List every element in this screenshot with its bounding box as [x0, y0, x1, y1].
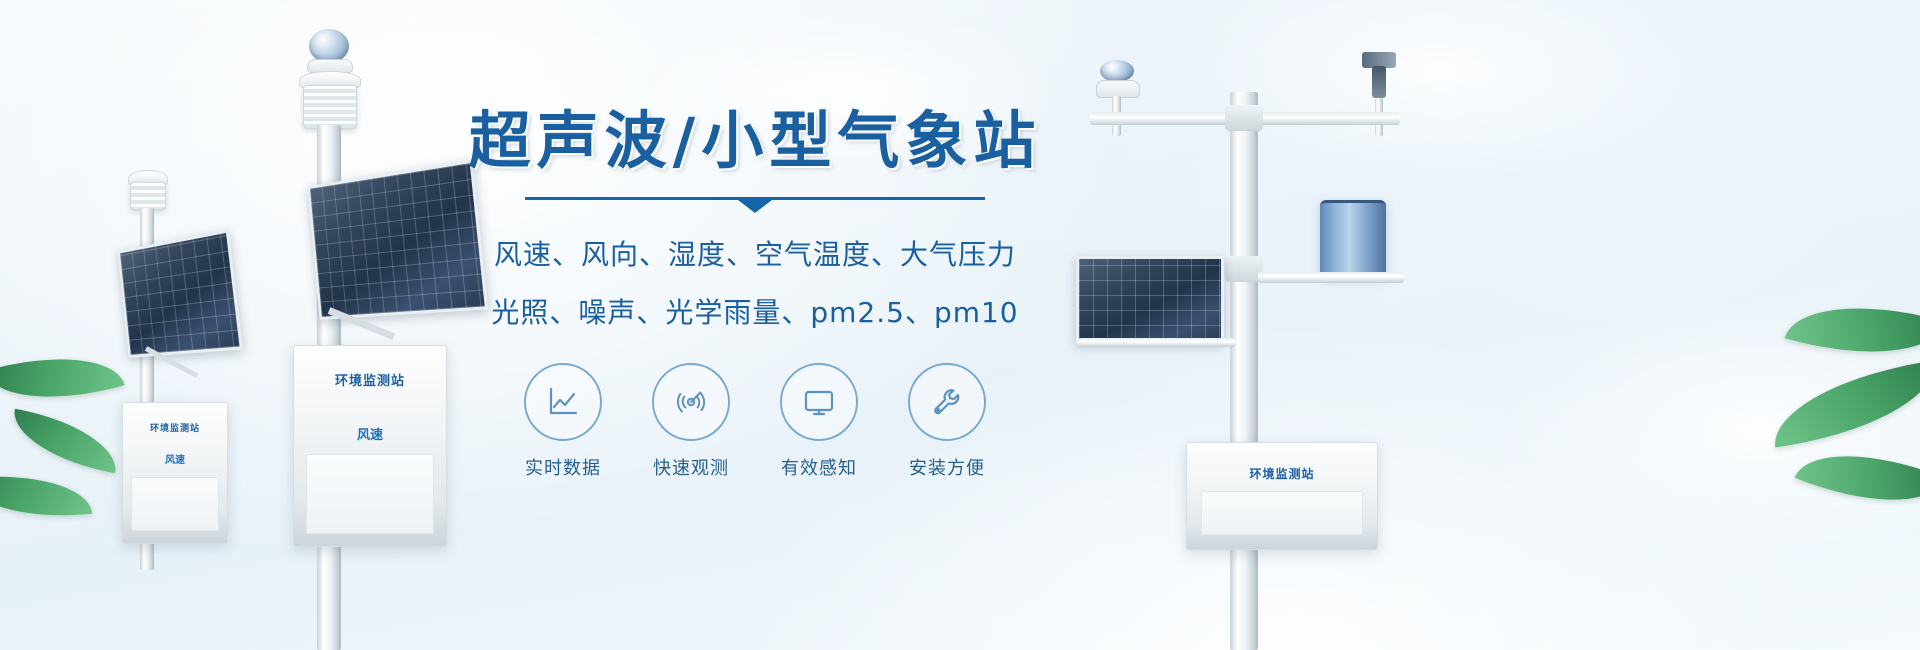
cabinet-door-seam: [1201, 491, 1363, 535]
product-left-small-station: 环境监测站 风速: [100, 170, 290, 570]
solar-panel: [1076, 256, 1224, 344]
feature-item-realtime-data[interactable]: 实时数据: [520, 363, 606, 480]
cabinet-enclosure: 环境监测站 风速: [293, 345, 447, 547]
mast-pole: [1230, 92, 1258, 650]
feature-label: 实时数据: [520, 454, 606, 480]
feature-label: 有效感知: [776, 454, 862, 480]
feature-list: 实时数据 快速观测: [455, 363, 1055, 480]
leaf-decoration: [0, 466, 92, 526]
feature-label: 安装方便: [904, 454, 990, 480]
wind-vane-body: [1372, 66, 1386, 98]
subtitle-line-1: 风速、风向、湿度、空气温度、大气压力: [455, 233, 1055, 273]
page-title: 超声波/小型气象站: [455, 108, 1055, 173]
feature-item-easy-installation[interactable]: 安装方便: [904, 363, 990, 480]
radar-signal-icon: [652, 363, 730, 441]
cabinet-door-seam: [131, 477, 219, 531]
leaf-decoration: [1795, 426, 1920, 530]
cabinet-door-seam: [306, 454, 434, 534]
subtitle-line-2: 光照、噪声、光学雨量、pm2.5、pm10: [455, 291, 1055, 331]
leaf-decoration: [1766, 360, 1920, 447]
weather-station-banner: 环境监测站 风速 环境监测站 风速: [0, 0, 1920, 650]
feature-item-effective-sensing[interactable]: 有效感知: [776, 363, 862, 480]
monitor-icon: [780, 363, 858, 441]
leaf-decoration: [1785, 280, 1920, 379]
cabinet-label: 环境监测站: [123, 421, 227, 434]
divider-triangle-icon: [738, 200, 772, 213]
cabinet-enclosure: 环境监测站: [1186, 442, 1378, 550]
radiation-shield: [303, 85, 357, 129]
cabinet-label: 环境监测站: [1187, 465, 1377, 482]
panel-support-arm: [1078, 338, 1236, 347]
brand-label: 风速: [123, 451, 227, 466]
line-chart-icon: [524, 363, 602, 441]
sensor-stack-icon: [130, 182, 166, 210]
product-right-station: 环境监测站: [1070, 50, 1410, 650]
wrench-icon: [908, 363, 986, 441]
brand-label: 风速: [294, 424, 446, 443]
feature-label: 快速观测: [648, 454, 734, 480]
instrument-shelf: [1258, 272, 1404, 283]
optical-rain-gauge: [1320, 200, 1386, 277]
banner-content: 超声波/小型气象站 风速、风向、湿度、空气温度、大气压力 光照、噪声、光学雨量、…: [455, 108, 1055, 480]
ultrasonic-dome-icon: [1100, 60, 1134, 82]
mast-collar: [1225, 105, 1263, 131]
title-divider: [525, 197, 985, 211]
solar-panel: [117, 229, 243, 358]
feature-item-fast-observation[interactable]: 快速观测: [648, 363, 734, 480]
cabinet-label: 环境监测站: [294, 370, 446, 389]
ultrasonic-dome-icon: [309, 29, 349, 63]
cabinet-enclosure: 环境监测站 风速: [122, 402, 228, 544]
